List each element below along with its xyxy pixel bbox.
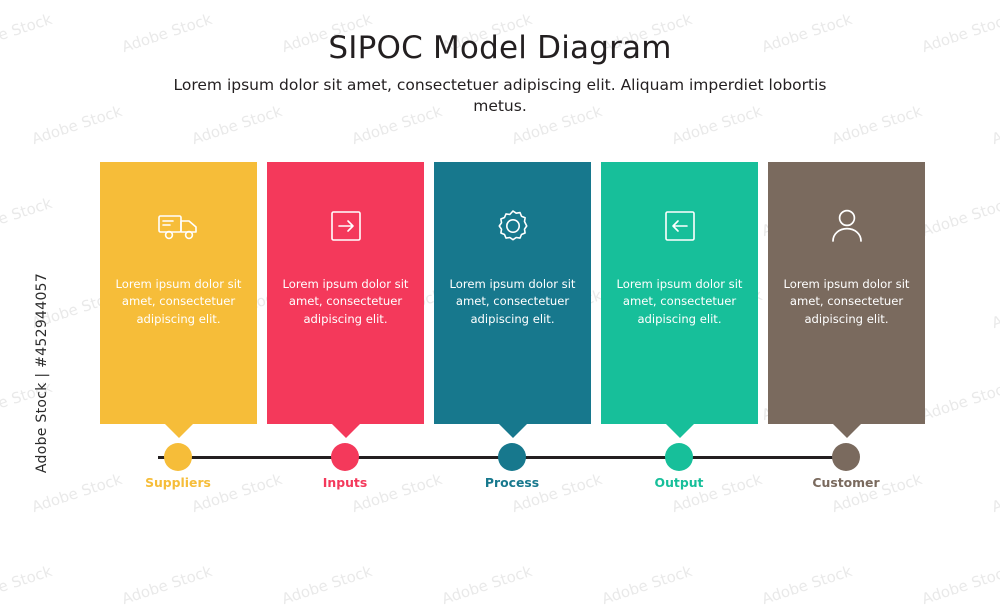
stage-dot-output[interactable] <box>665 443 693 471</box>
stage-column-inputs[interactable]: Lorem ipsum dolor sit amet, consectetuer… <box>267 162 424 438</box>
stage-description-output: Lorem ipsum dolor sit amet, consectetuer… <box>615 276 744 328</box>
watermark-tile: Adobe Stock <box>990 470 1000 516</box>
stage-dot-suppliers[interactable] <box>164 443 192 471</box>
stage-label-inputs: Inputs <box>255 475 435 490</box>
watermark-tile: Adobe Stock <box>760 562 855 608</box>
arrow-left-box-icon <box>615 198 744 254</box>
stage-arrow-output <box>666 424 694 438</box>
stage-arrow-process <box>499 424 527 438</box>
stage-panel-suppliers: Lorem ipsum dolor sit amet, consectetuer… <box>100 162 257 424</box>
truck-icon <box>114 198 243 254</box>
arrow-right-box-icon <box>281 198 410 254</box>
watermark-tile: Adobe Stock <box>920 378 1000 424</box>
stage-description-customer: Lorem ipsum dolor sit amet, consectetuer… <box>782 276 911 328</box>
watermark-tile: Adobe Stock <box>920 194 1000 240</box>
watermark-tile: Adobe Stock <box>920 562 1000 608</box>
stage-description-process: Lorem ipsum dolor sit amet, consectetuer… <box>448 276 577 328</box>
stage-arrow-inputs <box>332 424 360 438</box>
stage-description-suppliers: Lorem ipsum dolor sit amet, consectetuer… <box>114 276 243 328</box>
watermark-tile: Adobe Stock <box>0 562 54 608</box>
stage-column-suppliers[interactable]: Lorem ipsum dolor sit amet, consectetuer… <box>100 162 257 438</box>
watermark-tile: Adobe Stock <box>600 562 695 608</box>
stage-panel-customer: Lorem ipsum dolor sit amet, consectetuer… <box>768 162 925 424</box>
stage-dot-customer[interactable] <box>832 443 860 471</box>
stage-arrow-customer <box>833 424 861 438</box>
watermark-tile: Adobe Stock <box>120 562 215 608</box>
stage-arrow-suppliers <box>165 424 193 438</box>
page-title: SIPOC Model Diagram <box>0 30 1000 66</box>
stage-panel-process: Lorem ipsum dolor sit amet, consectetuer… <box>434 162 591 424</box>
sipoc-diagram: Lorem ipsum dolor sit amet, consectetuer… <box>100 162 931 502</box>
header: SIPOC Model Diagram Lorem ipsum dolor si… <box>0 30 1000 117</box>
stage-label-process: Process <box>422 475 602 490</box>
stage-label-output: Output <box>589 475 769 490</box>
stage-label-customer: Customer <box>756 475 936 490</box>
stage-column-process[interactable]: Lorem ipsum dolor sit amet, consectetuer… <box>434 162 591 438</box>
stage-label-suppliers: Suppliers <box>88 475 268 490</box>
stage-dot-inputs[interactable] <box>331 443 359 471</box>
watermark-tile: Adobe Stock <box>990 286 1000 332</box>
stage-column-customer[interactable]: Lorem ipsum dolor sit amet, consectetuer… <box>768 162 925 438</box>
watermark-tile: Adobe Stock <box>440 562 535 608</box>
watermark-side-text: Adobe Stock | #452944057 <box>34 223 50 523</box>
person-icon <box>782 198 911 254</box>
stage-description-inputs: Lorem ipsum dolor sit amet, consectetuer… <box>281 276 410 328</box>
gear-icon <box>448 198 577 254</box>
watermark-tile: Adobe Stock <box>280 562 375 608</box>
page-subtitle: Lorem ipsum dolor sit amet, consectetuer… <box>170 75 830 117</box>
stage-dot-process[interactable] <box>498 443 526 471</box>
stage-panel-output: Lorem ipsum dolor sit amet, consectetuer… <box>601 162 758 424</box>
stage-column-output[interactable]: Lorem ipsum dolor sit amet, consectetuer… <box>601 162 758 438</box>
stage-panel-inputs: Lorem ipsum dolor sit amet, consectetuer… <box>267 162 424 424</box>
